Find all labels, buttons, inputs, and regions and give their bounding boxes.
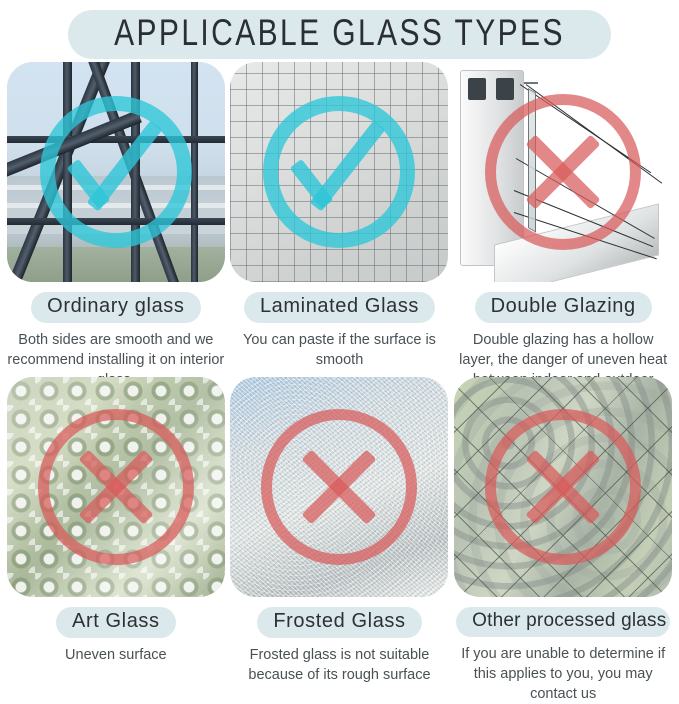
x-circle-icon — [230, 377, 448, 597]
glass-type-card-double-glazing[interactable]: Double Glazing Double glazing has a holl… — [451, 62, 675, 377]
glass-type-description: If you are unable to determine if this a… — [454, 644, 672, 704]
glass-types-grid: Ordinary glass Both sides are smooth and… — [0, 62, 679, 692]
glass-type-label: Frosted Glass — [273, 610, 405, 632]
label-pill-art-glass: Art Glass — [56, 607, 176, 638]
glass-type-description: Uneven surface — [65, 645, 167, 665]
label-pill-ordinary-glass: Ordinary glass — [31, 292, 200, 323]
page-header: APPLICABLE GLASS TYPES — [0, 0, 679, 62]
label-pill-double-glazing: Double Glazing — [475, 292, 652, 323]
glass-type-card-frosted-glass[interactable]: Frosted Glass Frosted glass is not suita… — [228, 377, 452, 692]
art-glass-pattern-photo — [7, 377, 225, 597]
page-title: APPLICABLE GLASS TYPES — [114, 13, 565, 53]
label-pill-frosted-glass: Frosted Glass — [257, 607, 421, 638]
wired-diamond-glass-photo — [454, 377, 672, 597]
curtain-wall-building-photo — [7, 62, 225, 282]
x-circle-icon — [7, 377, 225, 597]
frosted-glass-texture-photo — [230, 377, 448, 597]
glass-type-description: You can paste if the surface is smooth — [230, 330, 448, 370]
x-circle-icon — [454, 377, 672, 597]
glass-type-label: Art Glass — [72, 610, 160, 632]
glass-type-description: Frosted glass is not suitable because of… — [230, 645, 448, 685]
label-pill-other-processed-glass: Other processed glass — [456, 607, 670, 637]
laminated-grid-glass-photo — [230, 62, 448, 282]
glass-type-label: Ordinary glass — [47, 295, 184, 317]
glass-type-card-laminated-glass[interactable]: Laminated Glass You can paste if the sur… — [228, 62, 452, 377]
glass-type-label: Other processed glass — [472, 610, 666, 631]
double-glazing-cross-section-photo — [454, 62, 672, 282]
glass-type-card-other-processed-glass[interactable]: Other processed glass If you are unable … — [451, 377, 675, 692]
glass-type-card-ordinary-glass[interactable]: Ordinary glass Both sides are smooth and… — [4, 62, 228, 377]
check-circle-icon — [7, 62, 225, 282]
glass-type-card-art-glass[interactable]: Art Glass Uneven surface — [4, 377, 228, 692]
x-circle-icon — [454, 62, 672, 282]
label-pill-laminated-glass: Laminated Glass — [244, 292, 435, 323]
header-pill: APPLICABLE GLASS TYPES — [68, 10, 611, 59]
check-circle-icon — [230, 62, 448, 282]
glass-type-label: Laminated Glass — [260, 295, 419, 317]
glass-type-label: Double Glazing — [491, 295, 636, 317]
